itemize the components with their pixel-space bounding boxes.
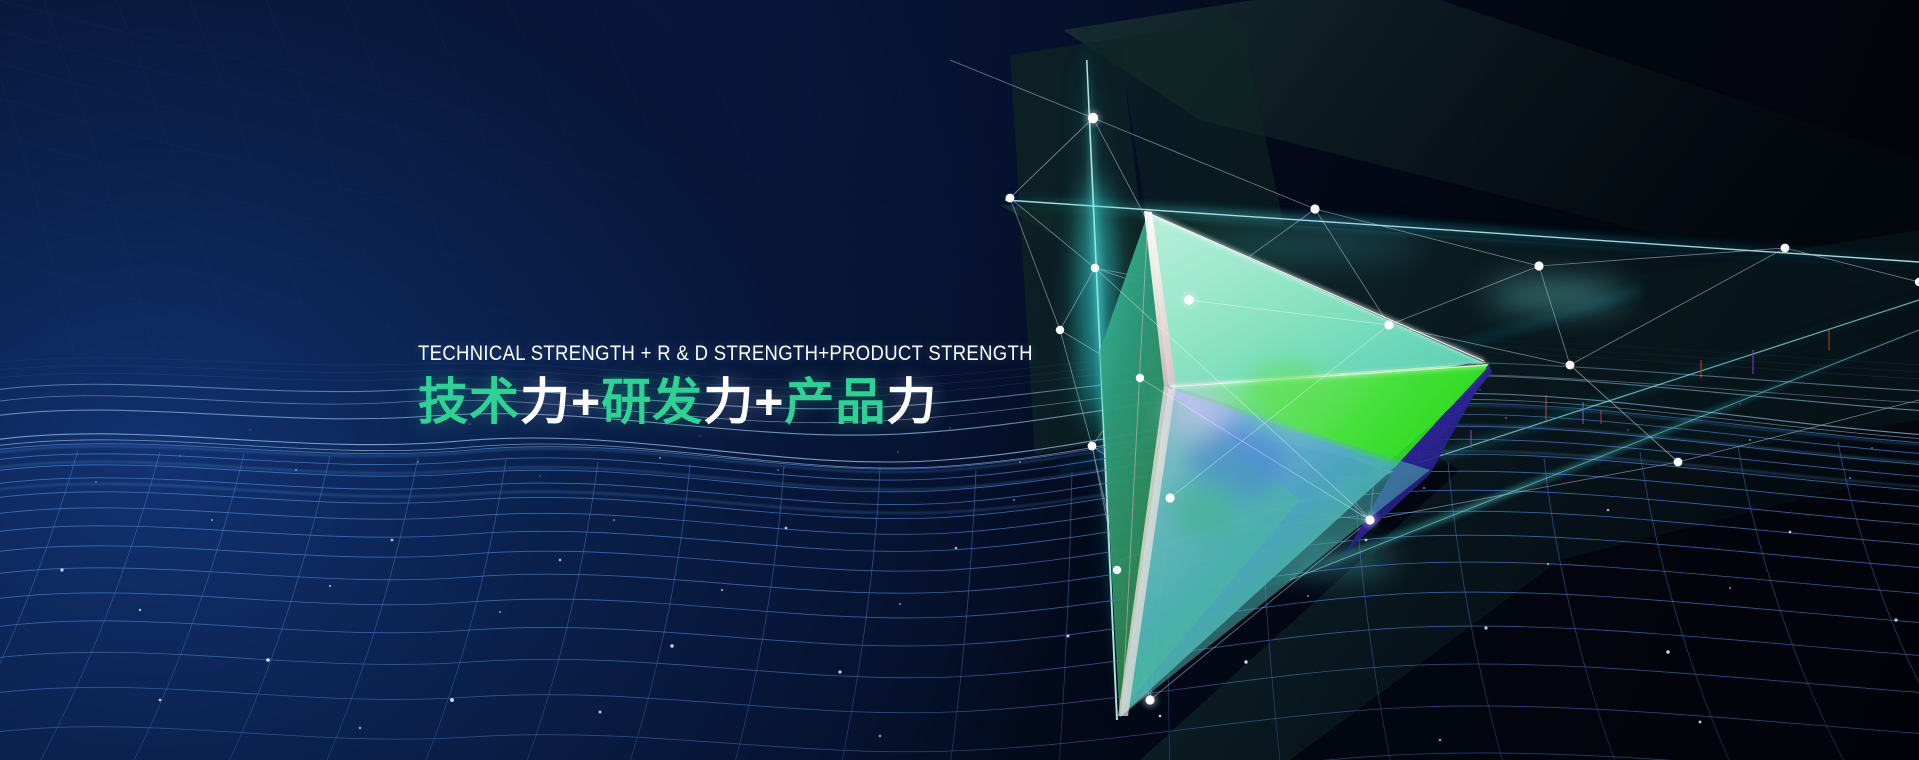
headline-chinese: 技术力+研发力+产品力	[418, 375, 1038, 429]
headline-cn-seg-7: 力	[886, 374, 937, 430]
headline-cn-seg-6: 产品	[784, 374, 886, 430]
headline-cn-seg-2: +	[571, 374, 601, 430]
hero-banner: TECHNICAL STRENGTH + R & D STRENGTH+PROD…	[0, 0, 1919, 760]
headline-cn-seg-0: 技术	[418, 374, 520, 430]
headline-block: TECHNICAL STRENGTH + R & D STRENGTH+PROD…	[418, 342, 1038, 429]
headline-cn-seg-5: +	[754, 374, 784, 430]
headline-english: TECHNICAL STRENGTH + R & D STRENGTH+PROD…	[418, 342, 964, 366]
headline-cn-seg-4: 力	[703, 374, 754, 430]
headline-cn-seg-1: 力	[520, 374, 571, 430]
headline-cn-seg-3: 研发	[601, 374, 703, 430]
